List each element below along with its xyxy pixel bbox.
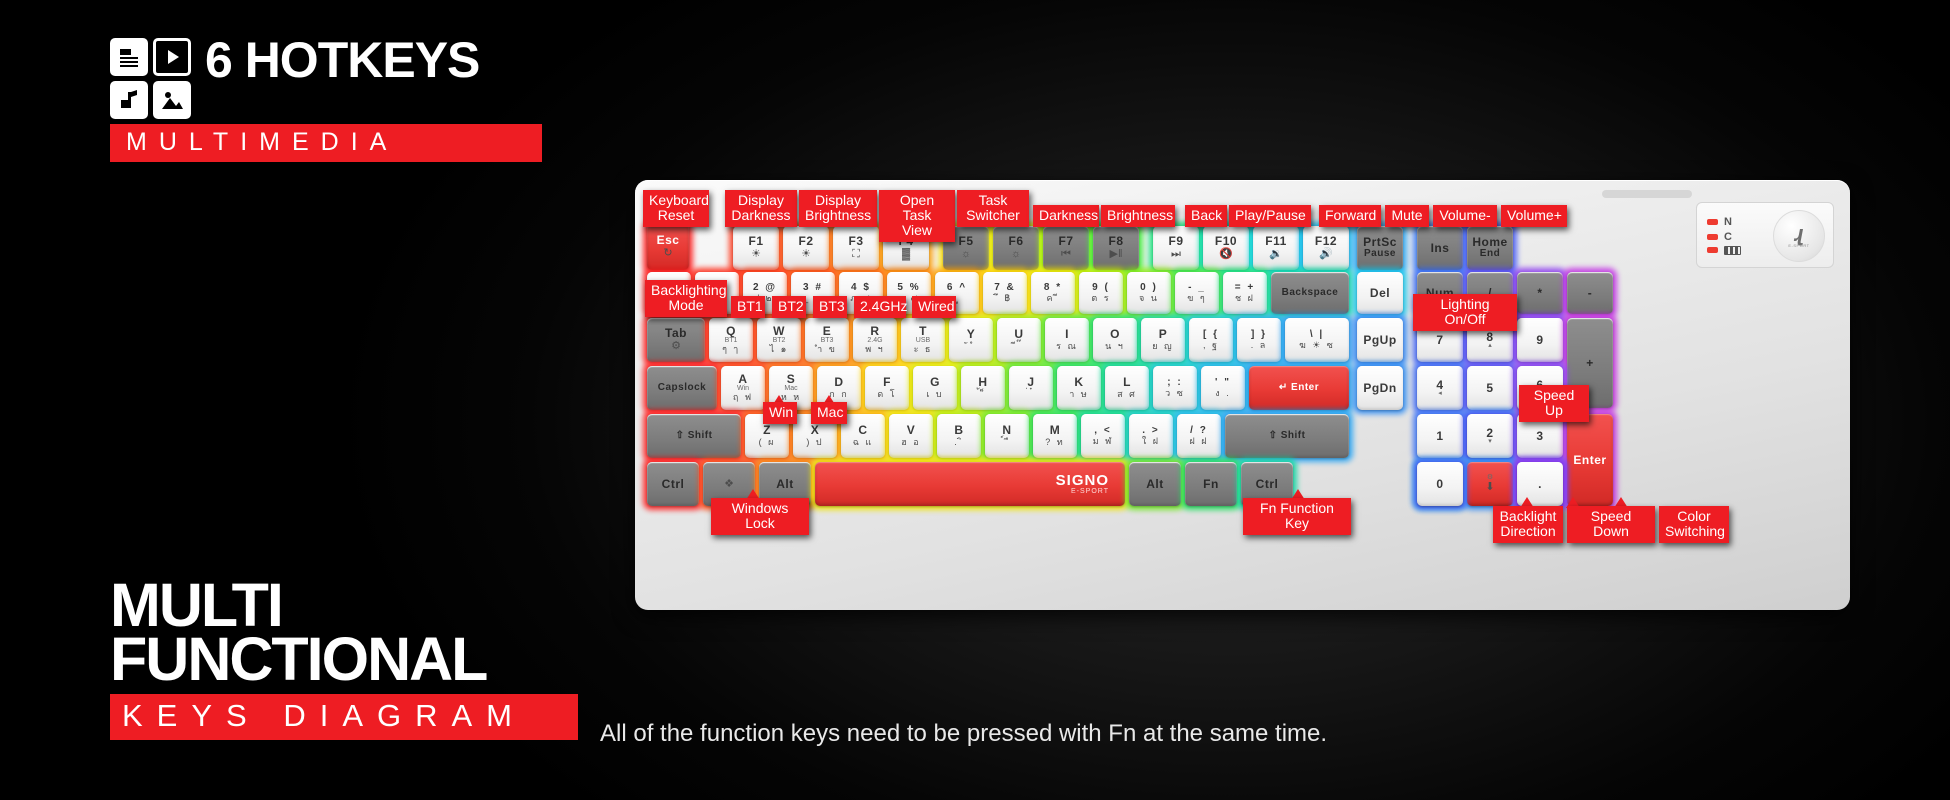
key-legend-thai: ? ท [1045,438,1064,447]
key-legend-top: 4 $ [851,283,871,294]
key-t[interactable]: TUSBะ ธ [901,318,945,362]
footer-caption: All of the function keys need to be pres… [600,720,1327,748]
key-legend-thai: ) ป [806,438,823,447]
key-legend-main: Esc [657,234,680,247]
key-legend-thai: ข ๆ [1187,294,1207,303]
key-n8[interactable]: 8 *ค ี [1031,272,1075,314]
key-legend-main: . [1538,478,1542,491]
key-legend-top: 3 # [803,283,823,294]
key-glyph-icon: ❖ [724,479,734,491]
key-q[interactable]: QBT1ๆ ๅ [709,318,753,362]
key-f3[interactable]: F3⛶ [833,226,879,270]
key-legend-sub: ▴ [1488,342,1492,349]
key-npmul[interactable]: * [1517,272,1563,314]
callout-darkness: Darkness [1033,205,1099,227]
key-legend-main: F1 [748,235,763,248]
key-glyph-icon: ☼ [1011,249,1021,261]
key-minus[interactable]: - _ข ๆ [1175,272,1219,314]
key-glyph-icon: ⛶ [852,249,860,261]
key-legend-main: O [1110,328,1120,341]
key-legend-main: H [978,376,987,389]
led-dot-icon [1707,219,1718,225]
key-legend-top: 7 & [994,283,1016,294]
callout-display-darkness: Display Darkness [725,190,797,227]
callout-speed-up: Speed Up [1519,385,1589,422]
key-h[interactable]: H้ ็ [961,366,1005,410]
led-num-lock: N [1707,216,1741,228]
key-legend-top: - _ [1188,283,1206,294]
key-legend-main: X [811,424,820,437]
document-icon [110,38,148,76]
key-glyph-icon: ☼ [961,249,971,261]
key-legend-top: , < [1094,426,1111,437]
key-legend-thai: ต ร [1091,294,1110,303]
callout-volume-down: Volume- [1433,205,1497,227]
key-legend-top: ' " [1215,378,1231,389]
key-f7[interactable]: F7⏮ [1043,226,1089,270]
indicator-panel: N C ɻ E-SPORT [1696,202,1834,268]
key-legend-top: \ | [1310,330,1324,341]
key-legend-main: D [834,376,843,389]
key-legend-main2: Pause [1364,249,1396,260]
callout-back: Back [1185,205,1227,227]
key-i[interactable]: Iร ณ [1045,318,1089,362]
key-legend-main: 5 [1486,382,1493,395]
key-npenter[interactable]: Enter [1567,414,1613,506]
key-np5[interactable]: 5 [1467,366,1513,410]
key-glyph-icon: ⏮ [1061,249,1071,261]
key-m[interactable]: M? ท [1033,414,1077,458]
key-legend-main: F [883,376,891,389]
key-f12[interactable]: F12🔊 [1303,226,1349,270]
callout-win: Win [763,402,797,424]
key-slash[interactable]: / ?ฝ ฝ [1177,414,1221,458]
callout-color-switching: Color Switching [1659,506,1729,543]
key-legend-main: F5 [958,235,973,248]
callout-fn-function-key: Fn Function Key [1243,498,1351,535]
key-glyph-icon: 🔇 [1219,249,1233,261]
key-w[interactable]: WBT2ไ ๑ [757,318,801,362]
callout-speed-down: Speed Down [1567,506,1655,543]
key-capslock[interactable]: Capslock [647,366,717,410]
callout-volume-up: Volume+ [1501,205,1567,227]
key-ins[interactable]: Ins [1417,226,1463,270]
key-legend-main: PgUp [1363,334,1396,347]
key-legend-top: 6 ^ [947,283,967,294]
key-legend-thai: ี ๊ [1015,342,1022,351]
key-legend-thai: ง . [1215,389,1230,398]
key-glyph-icon: ☀ [751,249,761,261]
key-backspace[interactable]: Backspace [1271,272,1349,314]
key-l[interactable]: Lส ศ [1105,366,1149,410]
key-legend-sub: BT2 [773,337,786,344]
key-legend-thai: ำ ข [817,345,837,354]
key-legend-main: Ctrl [662,478,685,491]
key-legend-main: F10 [1215,235,1237,248]
key-legend-thai: ค ี [1046,294,1059,303]
callout-display-brightness: Display Brightness [799,190,877,227]
key-n7[interactable]: 7 &ึ ฿ [983,272,1027,314]
key-legend-main: J [1027,376,1034,389]
key-enter[interactable]: ↵ Enter [1249,366,1349,410]
key-legend-thai: ใ ฝ [1142,437,1160,446]
key-f2[interactable]: F2☀ [783,226,829,270]
key-legend-thai: ฮ อ [901,438,920,447]
key-v[interactable]: Vฮ อ [889,414,933,458]
key-legend-thai: า ษ [1069,390,1089,399]
key-legend-main: F7 [1058,235,1073,248]
key-legend-thai: ้ ็ [979,390,986,399]
key-legend-main: Alt [776,478,794,491]
callout-bt3: BT3 [813,296,847,318]
callout-play-pause: Play/Pause [1229,205,1311,227]
brand-sub-label: E-SPORT [1788,243,1809,248]
callout-backlight-direction: Backlight Direction [1493,506,1563,543]
key-legend-main: B [954,424,963,437]
key-legend-thai: ฝ ฝ [1189,437,1208,446]
key-n[interactable]: N์ ื [985,414,1029,458]
callout-mute: Mute [1385,205,1429,227]
key-legend-main: 9 [1536,334,1543,347]
music-icon [110,81,148,119]
key-legend-thai: ะ ธ [914,345,933,354]
key-legend-top: 9 ( [1092,283,1110,294]
key-legend-main: 7 [1436,334,1443,347]
callout-backlighting-mode: Backlighting Mode [645,280,727,317]
key-np4[interactable]: 4◂ [1417,366,1463,410]
key-legend-main: ⇧ Shift [1269,431,1306,442]
page-title: 6 HOTKEYS [205,38,479,119]
key-legend-top: / ? [1190,426,1208,437]
key-esc[interactable]: Esc↻ [647,224,689,270]
key-legend-sub: Mac [784,385,797,392]
key-legend-thai: ว ซ [1165,389,1185,398]
key-lshift[interactable]: ⇧ Shift [647,414,741,458]
key-lbracket[interactable]: [ {, ฐ [1189,318,1233,362]
key-r[interactable]: R2.4Gพ ฯ [853,318,897,362]
key-g[interactable]: Gเ บ [913,366,957,410]
key-legend-main: Ctrl [1256,478,1279,491]
key-legend-main: Capslock [658,383,706,394]
brand-mark-icon: ɻ [1795,225,1804,243]
play-icon [153,38,191,76]
key-legend-thai: ึ ฿ [998,294,1012,303]
hotkeys-header: 6 HOTKEYS MULTIMEDIA [110,38,542,162]
key-legend-thai: ส ศ [1117,390,1137,399]
callout-mac: Mac [811,402,847,424]
key-f1[interactable]: F1☀ [733,226,779,270]
key-legend-thai: ( ผ [759,438,776,447]
key-legend-main: C [858,424,867,437]
key-semicolon[interactable]: ; :ว ซ [1153,366,1197,410]
key-legend-top: ] } [1251,330,1267,341]
key-f6[interactable]: F6☼ [993,226,1039,270]
key-legend-main: F6 [1008,235,1023,248]
page-subtitle: MULTIMEDIA [110,124,542,162]
callout-keyboard-reset: Keyboard Reset [643,190,709,227]
key-legend-main: P [1159,328,1168,341]
key-legend-sub: Win [737,385,749,392]
key-legend-thai: ั ํ [967,342,974,351]
key-legend-main: Z [763,424,771,437]
key-tab[interactable]: Tab⚙ [647,318,705,362]
key-legend-main: Backspace [1282,288,1339,299]
key-legend-thai: ด โ [877,390,896,399]
image-icon [153,81,191,119]
key-legend-main: Del [1370,287,1390,300]
key-legend-sub: ⚙ [1487,474,1493,481]
key-glyph-icon: ↻ [663,248,672,260]
key-comma[interactable]: , <ม ฬ [1081,414,1125,458]
key-legend-thai: ่ ๋ [1027,390,1034,399]
key-legend-thai: ช ฝ [1235,294,1255,303]
key-period[interactable]: . >ใ ฝ [1129,414,1173,458]
key-glyph-icon: ☀ [801,249,811,261]
key-legend-main: F12 [1315,235,1337,248]
key-legend-sub: ▾ [1488,438,1492,445]
key-rbracket[interactable]: ] }. ล [1237,318,1281,362]
callout-open-task-view: Open Task View [879,190,955,242]
key-legend-main: Ins [1431,242,1450,255]
poster-root: 6 HOTKEYS MULTIMEDIA MULTI FUNCTIONAL KE… [0,0,1950,800]
key-pgup[interactable]: PgUp [1357,318,1403,362]
footer-title-line1: MULTI [110,578,578,632]
key-legend-main: Tab [665,327,687,340]
key-legend-top: [ { [1203,330,1219,341]
key-u[interactable]: Uี ๊ [997,318,1041,362]
key-legend-thai: น ฯ [1105,342,1125,351]
key-legend-thai: ฆ ☀ ซ [1299,341,1335,350]
key-legend-main: K [1074,376,1083,389]
key-legend-top: 8 * [1044,283,1062,294]
footer-title-block: MULTI FUNCTIONAL KEYS DIAGRAM [110,578,578,740]
key-legend-thai: ไ ๑ [770,345,789,354]
key-quote[interactable]: ' "ง . [1201,366,1245,410]
key-legend-sub: BT3 [821,337,834,344]
callout-task-switcher: Task Switcher [957,190,1029,227]
key-ralt[interactable]: Alt [1129,462,1181,506]
key-legend-main: ↵ Enter [1279,383,1319,394]
key-glyph-icon: 🔊 [1319,249,1333,261]
key-legend-main: Y [967,328,976,341]
key-y[interactable]: Yั ํ [949,318,993,362]
key-legend-thai: เ บ [926,390,943,399]
key-glyph-icon: ⚙ [671,341,681,353]
callout-ghz24: 2.4GHz [854,296,906,318]
key-legend-main: L [1123,376,1131,389]
key-legend-top: 2 @ [753,283,777,294]
key-glyph-icon: ⬇ [1485,482,1494,494]
key-legend-main: 0 [1436,478,1443,491]
key-legend-thai: ฤ ฟ [733,393,753,402]
key-glyph-icon: ⏭ [1171,249,1181,261]
key-f10[interactable]: F10🔇 [1203,226,1249,270]
key-equal[interactable]: = +ช ฝ [1223,272,1267,314]
key-legend-main: G [930,376,940,389]
key-e[interactable]: EBT3ำ ข [805,318,849,362]
key-f11[interactable]: F11🔉 [1253,226,1299,270]
key-legend-sub: ◂ [1438,390,1442,397]
key-legend-thai: พ ฯ [865,345,885,354]
key-o[interactable]: Oน ฯ [1093,318,1137,362]
led-label: C [1724,231,1732,243]
key-pgdn[interactable]: PgDn [1357,366,1403,410]
key-legend-main: 1 [1436,430,1443,443]
key-legend-main: M [1050,424,1061,437]
key-k[interactable]: Kา ษ [1057,366,1101,410]
key-legend-thai: จ น [1139,294,1159,303]
led-caps-lock: C [1707,231,1741,243]
key-space[interactable]: SIGNOE-SPORT [815,462,1125,506]
key-legend-main: Alt [1146,478,1164,491]
key-legend-thai: . ล [1251,341,1268,350]
callout-bt2: BT2 [772,296,806,318]
spacebar-brand: SIGNOE-SPORT [1056,473,1109,495]
key-del[interactable]: Del [1357,272,1403,314]
key-npsub[interactable]: - [1567,272,1613,314]
footer-title-line2: FUNCTIONAL [110,632,578,686]
key-legend-main: Enter [1573,454,1606,467]
key-legend-main: I [1065,328,1069,341]
keyboard-diagram: N C ɻ E-SPORT Esc↻F1☀F2☀F3⛶F4▓F5☼ [635,180,1850,610]
key-legend-main: + [1586,357,1594,370]
key-legend-thai: ม ฬ [1093,437,1114,446]
key-n9[interactable]: 9 (ต ร [1079,272,1123,314]
keyboard-body: N C ɻ E-SPORT Esc↻F1☀F2☀F3⛶F4▓F5☼ [635,180,1850,610]
led-label: N [1724,216,1732,228]
key-b[interactable]: B. ิ [937,414,981,458]
key-f[interactable]: Fด โ [865,366,909,410]
key-arrow-down[interactable]: ⚙⬇ [1467,462,1513,506]
callout-brightness: Brightness [1101,205,1175,227]
led-dot-icon [1707,234,1718,240]
key-legend-main: F2 [798,235,813,248]
key-legend-main: 3 [1536,430,1543,443]
led-battery [1707,246,1741,255]
spacebar-brand-sub: E-SPORT [1056,488,1109,495]
key-p[interactable]: Pย ญ [1141,318,1185,362]
footer-subtitle: KEYS DIAGRAM [110,694,578,740]
key-c[interactable]: Cฉ แ [841,414,885,458]
led-dot-icon [1707,247,1718,253]
callout-windows-lock: Windows Lock [711,498,809,535]
key-legend-thai: ๆ ๅ [722,345,740,354]
key-legend-thai: ร ณ [1056,342,1078,351]
key-legend-main: V [907,424,916,437]
key-n0[interactable]: 0 )จ น [1127,272,1171,314]
key-np0[interactable]: 0 [1417,462,1463,506]
led-group: N C [1707,213,1741,258]
key-prtsc[interactable]: PrtScPause [1357,226,1403,270]
key-legend-main2: End [1480,249,1500,260]
key-legend-sub: BT1 [725,337,738,344]
key-legend-top: 0 ) [1140,283,1158,294]
key-legend-top: ; : [1167,378,1182,389]
key-np2[interactable]: 2▾ [1467,414,1513,458]
key-backslash[interactable]: \ |ฆ ☀ ซ [1285,318,1349,362]
key-legend-top: 5 % [897,283,920,294]
key-rshift[interactable]: ⇧ Shift [1225,414,1349,458]
key-home[interactable]: HomeEnd [1467,226,1513,270]
key-legend-main: N [1002,424,1011,437]
key-legend-top: = + [1235,283,1255,294]
key-legend-main: - [1588,287,1593,300]
key-glyph-icon: 🔉 [1269,249,1283,261]
key-f8[interactable]: F8▶‖ [1093,226,1139,270]
key-legend-main: F11 [1265,235,1287,248]
key-np9[interactable]: 9 [1517,318,1563,362]
key-lctrl[interactable]: Ctrl [647,462,699,506]
key-glyph-icon: ▶‖ [1109,249,1122,261]
key-legend-main: PgDn [1363,382,1396,395]
key-legend-top: . > [1142,426,1159,437]
callout-wired: Wired [912,296,956,318]
key-legend-main: F8 [1108,235,1123,248]
key-legend-thai: ย ญ [1152,342,1173,351]
key-legend-main: F3 [848,235,863,248]
key-legend-main: Fn [1203,478,1219,491]
spacebar-brand-name: SIGNO [1056,473,1109,488]
callout-forward: Forward [1319,205,1381,227]
key-j[interactable]: J่ ๋ [1009,366,1053,410]
key-legend-main: U [1014,328,1023,341]
key-a[interactable]: AWinฤ ฟ [721,366,765,410]
battery-icon [1724,246,1741,255]
key-legend-main: ⇧ Shift [676,431,713,442]
key-f9[interactable]: F9⏭ [1153,226,1199,270]
key-legend-sub: 2.4G [867,337,882,344]
key-legend-thai: ฉ แ [853,438,873,447]
key-np1[interactable]: 1 [1417,414,1463,458]
key-legend-main: F9 [1168,235,1183,248]
key-legend-main: * [1537,287,1542,300]
key-legend-thai: ์ ื [1003,438,1010,447]
keyboard-notch [1602,190,1692,198]
key-legend-sub: USB [916,337,930,344]
hotkeys-icon-group [110,38,191,119]
callout-bt1: BT1 [731,296,765,318]
callout-lighting-on-off: Lighting On/Off [1413,294,1517,331]
key-glyph-icon: ▓ [902,249,910,261]
key-legend-thai: , ฐ [1203,341,1219,350]
key-fn[interactable]: Fn [1185,462,1237,506]
brand-logo: ɻ E-SPORT [1773,210,1825,262]
key-legend-thai: . ิ [954,438,964,447]
